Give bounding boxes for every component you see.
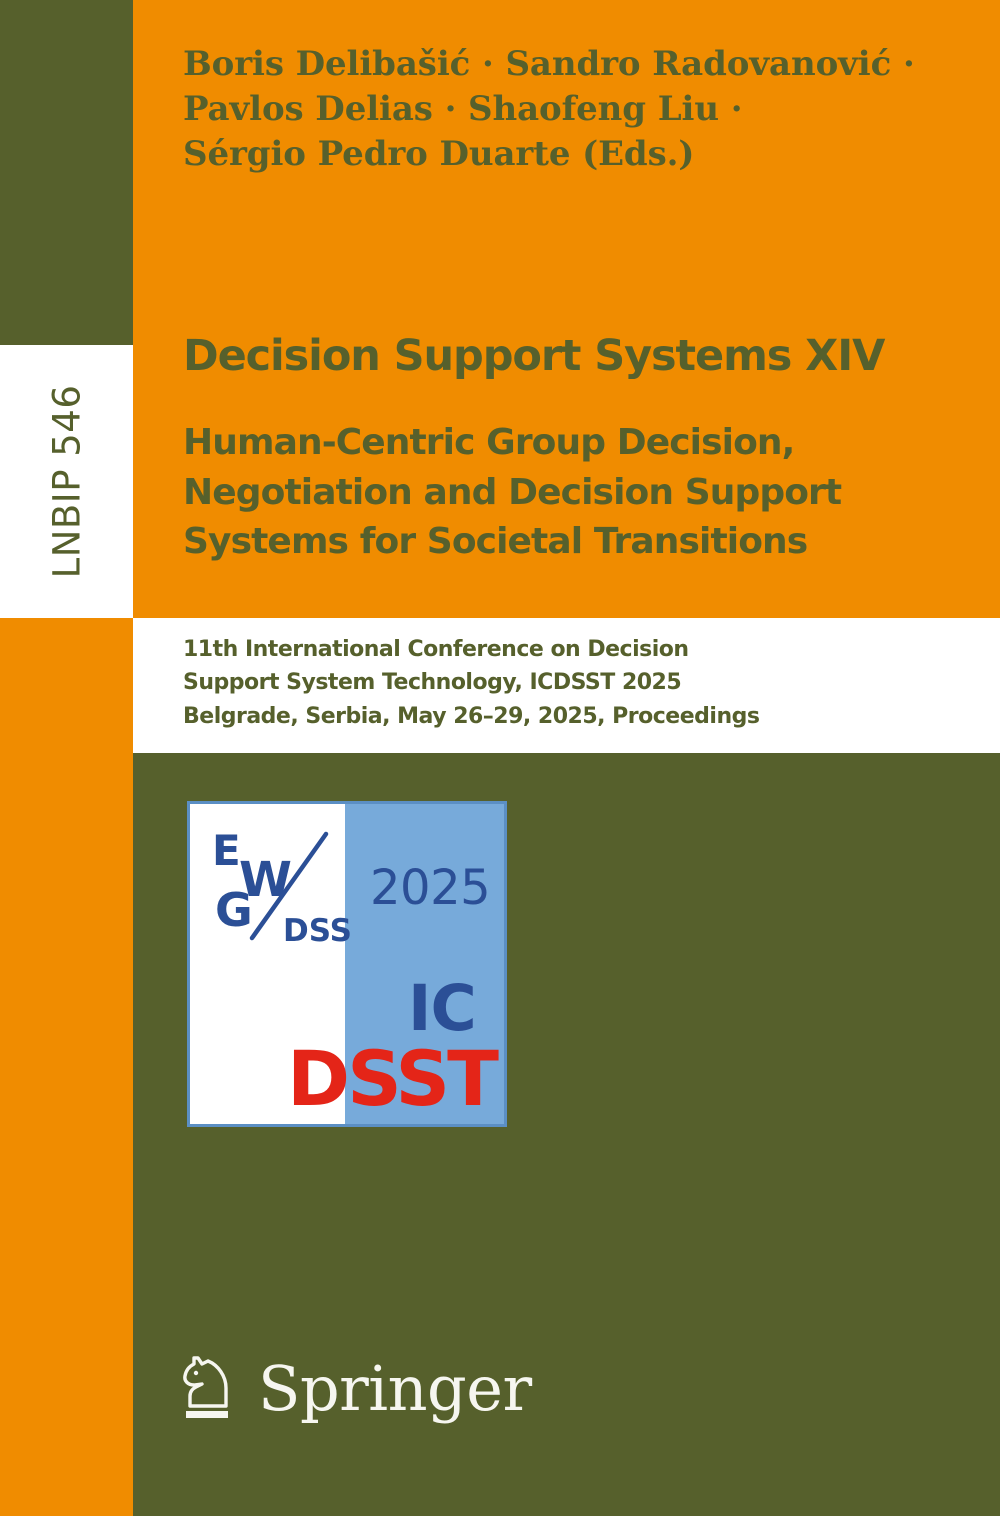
main-color-area [133, 0, 1000, 1516]
logo-dsst-text: DSST [287, 1034, 496, 1123]
springer-knight-icon [178, 1352, 236, 1424]
left-band-olive-block [0, 0, 133, 345]
editor-line: Pavlos Delias · Shaofeng Liu · [183, 87, 883, 132]
series-label-text: LNBIP 546 [45, 385, 88, 579]
editor-list: Boris Delibašić · Sandro Radovanović · P… [183, 42, 883, 178]
conference-info: 11th International Conference on Decisio… [183, 633, 883, 733]
conference-info-line: Belgrade, Serbia, May 26–29, 2025, Proce… [183, 700, 883, 733]
editor-line: Boris Delibašić · Sandro Radovanović · [183, 42, 883, 87]
series-label: LNBIP 546 [0, 345, 133, 618]
diagonal-slash-icon [246, 830, 332, 942]
ewg-letter-e: E [212, 830, 241, 872]
logo-year: 2025 [370, 860, 490, 916]
book-cover: LNBIP 546 Boris Delibašić · Sandro Radov… [0, 0, 1000, 1516]
book-subtitle: Human-Centric Group Decision, Negotiatio… [183, 418, 903, 567]
springer-wordmark: Springer [258, 1358, 532, 1420]
icdsst-logo: E W G DSS 2025 IC DSST [187, 801, 507, 1127]
conference-info-line: 11th International Conference on Decisio… [183, 633, 883, 666]
editor-line: Sérgio Pedro Duarte (Eds.) [183, 132, 883, 177]
subtitle-line: Negotiation and Decision Support [183, 468, 903, 518]
conference-info-line: Support System Technology, ICDSST 2025 [183, 666, 883, 699]
book-title: Decision Support Systems XIV [183, 333, 903, 380]
publisher-logo: Springer [178, 1352, 532, 1424]
subtitle-line: Human-Centric Group Decision, [183, 418, 903, 468]
left-color-band [0, 0, 133, 1516]
left-band-orange-block [0, 618, 133, 1516]
subtitle-line: Systems for Societal Transitions [183, 517, 903, 567]
